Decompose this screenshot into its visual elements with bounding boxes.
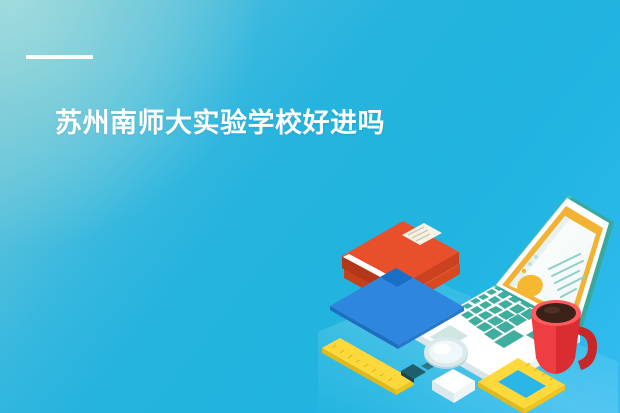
article-cover-banner: 苏州南师大实验学校好进吗: [0, 0, 620, 413]
accent-rule: [26, 55, 93, 59]
isometric-education-illustration: [318, 186, 620, 413]
page-title: 苏州南师大实验学校好进吗: [55, 107, 385, 141]
